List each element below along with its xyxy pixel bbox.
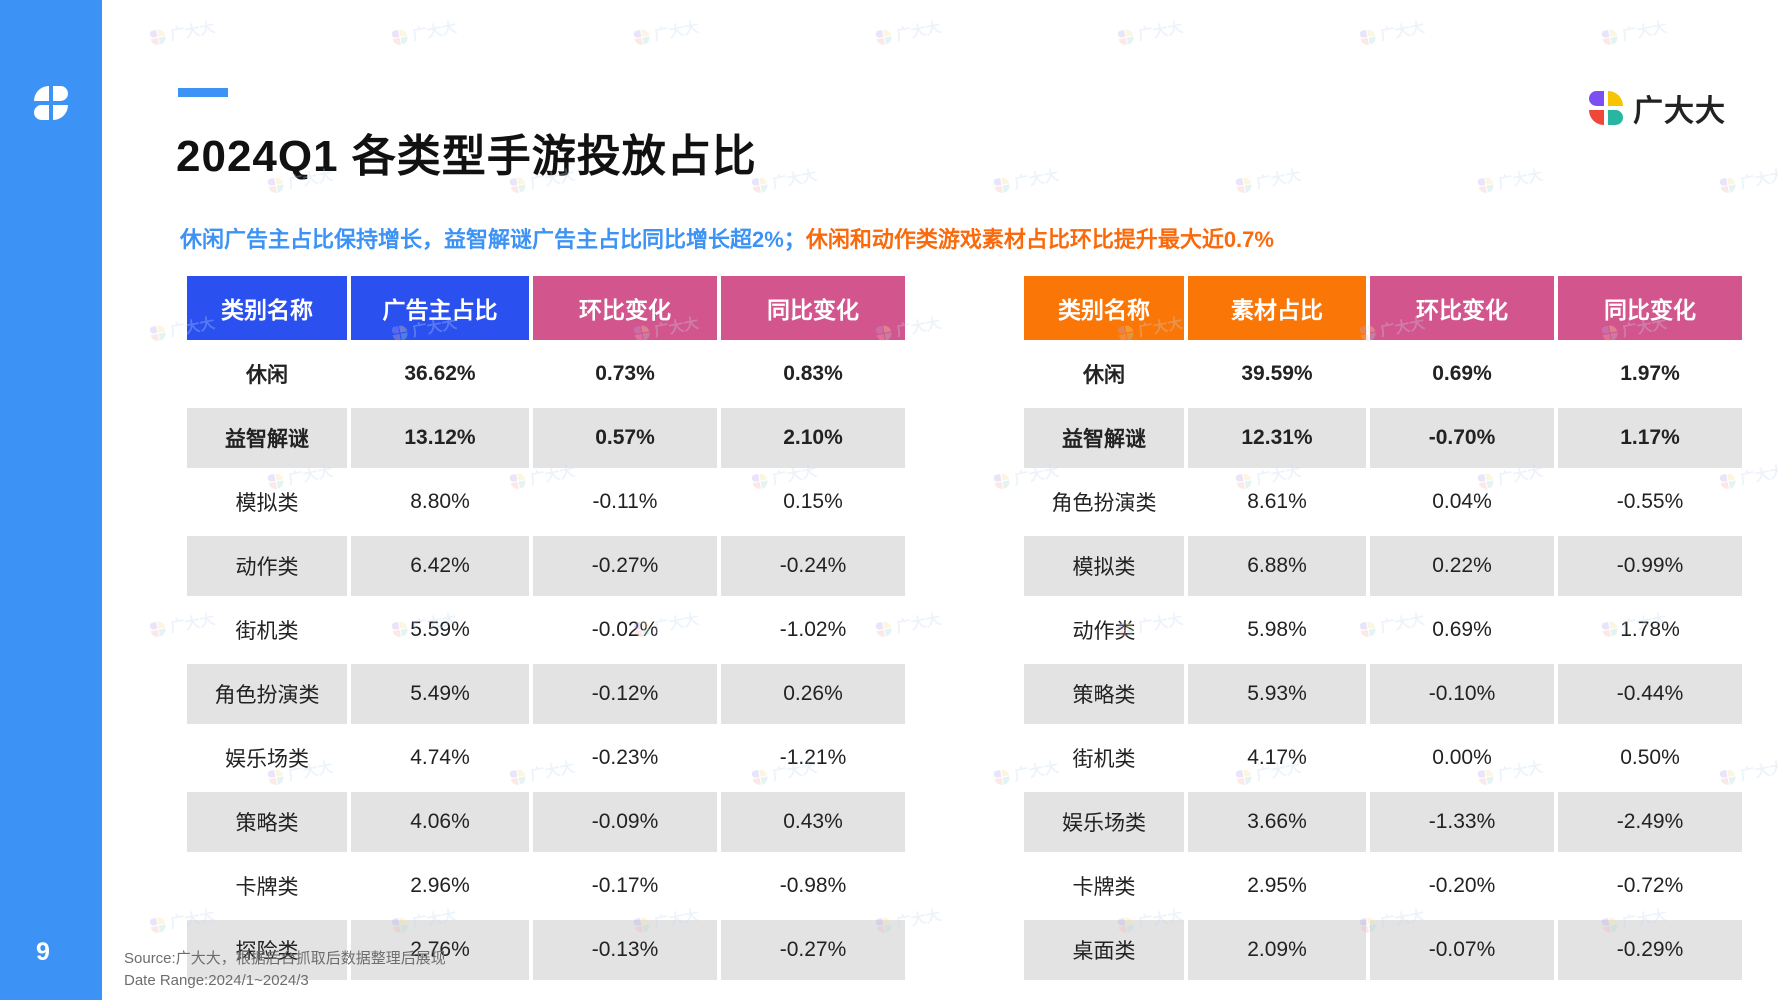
row-value-3: 0.26%	[721, 664, 905, 724]
row-value-2: 0.69%	[1370, 600, 1554, 660]
watermark-pinwheel-icon	[1601, 28, 1619, 46]
table-row: 策略类5.93%-0.10%-0.44%	[1024, 664, 1742, 724]
watermark-pinwheel-icon	[1359, 28, 1377, 46]
page-title: 2024Q1 各类型手游投放占比	[176, 120, 757, 184]
row-value-1: 13.12%	[351, 408, 529, 468]
page-subtitle: 休闲广告主占比保持增长，益智解谜广告主占比同比增长超2%；休闲和动作类游戏素材占…	[180, 222, 1274, 254]
table-row: 卡牌类2.96%-0.17%-0.98%	[187, 856, 905, 916]
brand-logo: 广大大	[1589, 86, 1726, 130]
subtitle-blue-text: 休闲广告主占比保持增长，益智解谜广告主占比同比增长超2%；	[180, 227, 806, 252]
watermark-pinwheel-icon	[149, 324, 167, 342]
row-value-2: 0.73%	[533, 344, 717, 404]
page-number: 9	[36, 938, 50, 967]
watermark-pinwheel-icon	[633, 28, 651, 46]
row-value-2: -0.02%	[533, 600, 717, 660]
watermark-pinwheel-icon	[1477, 176, 1495, 194]
row-value-1: 8.61%	[1188, 472, 1366, 532]
creative-share-table: 类别名称素材占比环比变化同比变化 休闲39.59%0.69%1.97%益智解谜1…	[1020, 272, 1746, 984]
row-value-3: -0.27%	[721, 920, 905, 980]
row-value-1: 4.74%	[351, 728, 529, 788]
watermark: 广大大	[149, 16, 217, 49]
watermark-text: 广大大	[1012, 164, 1060, 193]
table-row: 街机类4.17%0.00%0.50%	[1024, 728, 1742, 788]
row-category-label: 桌面类	[1024, 920, 1184, 980]
footer-source: Source:广大大，根据后台抓取后数据整理后展现 Date Range:202…	[124, 948, 446, 992]
watermark-text: 广大大	[410, 16, 458, 45]
row-value-3: -1.21%	[721, 728, 905, 788]
row-value-1: 8.80%	[351, 472, 529, 532]
row-value-1: 39.59%	[1188, 344, 1366, 404]
pinwheel-logo-icon	[34, 86, 68, 120]
row-category-label: 益智解谜	[187, 408, 347, 468]
row-value-1: 4.06%	[351, 792, 529, 852]
row-value-3: -0.55%	[1558, 472, 1742, 532]
watermark: 广大大	[1235, 164, 1303, 197]
watermark-pinwheel-icon	[149, 916, 167, 934]
row-value-1: 2.09%	[1188, 920, 1366, 980]
table-row: 娱乐场类3.66%-1.33%-2.49%	[1024, 792, 1742, 852]
watermark: 广大大	[1359, 16, 1427, 49]
footer-date-range-line: Date Range:2024/1~2024/3	[124, 970, 446, 992]
row-value-2: -0.27%	[533, 536, 717, 596]
watermark: 广大大	[993, 164, 1061, 197]
watermark-pinwheel-icon	[149, 28, 167, 46]
row-value-2: -0.23%	[533, 728, 717, 788]
table-header-row: 类别名称广告主占比环比变化同比变化	[187, 276, 905, 340]
watermark-text: 广大大	[1620, 16, 1668, 45]
table-row: 模拟类8.80%-0.11%0.15%	[187, 472, 905, 532]
watermark: 广大大	[633, 16, 701, 49]
row-value-2: 0.04%	[1370, 472, 1554, 532]
row-value-2: -0.11%	[533, 472, 717, 532]
watermark-pinwheel-icon	[1117, 28, 1135, 46]
row-value-3: -1.02%	[721, 600, 905, 660]
watermark: 广大大	[1117, 16, 1185, 49]
watermark-text: 广大大	[168, 16, 216, 45]
row-value-2: 0.57%	[533, 408, 717, 468]
row-value-3: -0.98%	[721, 856, 905, 916]
row-category-label: 娱乐场类	[1024, 792, 1184, 852]
watermark-pinwheel-icon	[993, 176, 1011, 194]
watermark-text: 广大大	[1378, 16, 1426, 45]
table-row: 模拟类6.88%0.22%-0.99%	[1024, 536, 1742, 596]
watermark-pinwheel-icon	[149, 620, 167, 638]
row-value-1: 5.93%	[1188, 664, 1366, 724]
row-value-2: -0.20%	[1370, 856, 1554, 916]
row-value-1: 2.96%	[351, 856, 529, 916]
table-row: 益智解谜13.12%0.57%2.10%	[187, 408, 905, 468]
row-category-label: 策略类	[1024, 664, 1184, 724]
table-row: 街机类5.59%-0.02%-1.02%	[187, 600, 905, 660]
row-category-label: 模拟类	[187, 472, 347, 532]
title-accent-bar	[178, 88, 228, 97]
row-category-label: 益智解谜	[1024, 408, 1184, 468]
table-row: 动作类6.42%-0.27%-0.24%	[187, 536, 905, 596]
row-value-3: -0.29%	[1558, 920, 1742, 980]
table-row: 娱乐场类4.74%-0.23%-1.21%	[187, 728, 905, 788]
table-row: 桌面类2.09%-0.07%-0.29%	[1024, 920, 1742, 980]
column-header-0: 类别名称	[187, 276, 347, 340]
watermark-text: 广大大	[652, 16, 700, 45]
row-value-1: 3.66%	[1188, 792, 1366, 852]
subtitle-orange-text: 休闲和动作类游戏素材占比环比提升最大近0.7%	[806, 227, 1274, 252]
watermark-text: 广大大	[770, 164, 818, 193]
column-header-2: 环比变化	[1370, 276, 1554, 340]
row-value-2: -0.13%	[533, 920, 717, 980]
advertiser-share-table-wrap: 类别名称广告主占比环比变化同比变化 休闲36.62%0.73%0.83%益智解谜…	[183, 272, 909, 984]
row-value-3: -0.99%	[1558, 536, 1742, 596]
row-category-label: 娱乐场类	[187, 728, 347, 788]
footer-source-line: Source:广大大，根据后台抓取后数据整理后展现	[124, 948, 446, 970]
row-category-label: 角色扮演类	[1024, 472, 1184, 532]
table-row: 卡牌类2.95%-0.20%-0.72%	[1024, 856, 1742, 916]
row-value-2: -0.70%	[1370, 408, 1554, 468]
row-value-3: -0.72%	[1558, 856, 1742, 916]
watermark-pinwheel-icon	[1235, 176, 1253, 194]
row-category-label: 动作类	[187, 536, 347, 596]
row-category-label: 模拟类	[1024, 536, 1184, 596]
row-value-3: -0.24%	[721, 536, 905, 596]
row-value-3: -2.49%	[1558, 792, 1742, 852]
row-category-label: 策略类	[187, 792, 347, 852]
table-row: 休闲39.59%0.69%1.97%	[1024, 344, 1742, 404]
table-body: 休闲39.59%0.69%1.97%益智解谜12.31%-0.70%1.17%角…	[1024, 344, 1742, 980]
row-value-3: 1.17%	[1558, 408, 1742, 468]
row-value-3: 1.78%	[1558, 600, 1742, 660]
row-value-1: 5.59%	[351, 600, 529, 660]
row-value-2: -0.09%	[533, 792, 717, 852]
table-row: 休闲36.62%0.73%0.83%	[187, 344, 905, 404]
row-value-2: -0.12%	[533, 664, 717, 724]
row-category-label: 休闲	[187, 344, 347, 404]
table-body: 休闲36.62%0.73%0.83%益智解谜13.12%0.57%2.10%模拟…	[187, 344, 905, 980]
row-value-3: 2.10%	[721, 408, 905, 468]
row-value-1: 5.98%	[1188, 600, 1366, 660]
row-value-1: 12.31%	[1188, 408, 1366, 468]
row-value-2: 0.22%	[1370, 536, 1554, 596]
row-category-label: 卡牌类	[1024, 856, 1184, 916]
watermark-pinwheel-icon	[875, 28, 893, 46]
left-rail: 9	[0, 0, 102, 1000]
row-value-3: -0.44%	[1558, 664, 1742, 724]
row-value-3: 0.83%	[721, 344, 905, 404]
row-category-label: 休闲	[1024, 344, 1184, 404]
row-value-1: 6.42%	[351, 536, 529, 596]
table-head: 类别名称素材占比环比变化同比变化	[1024, 276, 1742, 340]
row-value-2: -0.10%	[1370, 664, 1554, 724]
row-category-label: 街机类	[187, 600, 347, 660]
table-row: 益智解谜12.31%-0.70%1.17%	[1024, 408, 1742, 468]
column-header-1: 素材占比	[1188, 276, 1366, 340]
table-head: 类别名称广告主占比环比变化同比变化	[187, 276, 905, 340]
advertiser-share-table: 类别名称广告主占比环比变化同比变化 休闲36.62%0.73%0.83%益智解谜…	[183, 272, 909, 984]
watermark-text: 广大大	[1496, 164, 1544, 193]
table-row: 角色扮演类5.49%-0.12%0.26%	[187, 664, 905, 724]
table-header-row: 类别名称素材占比环比变化同比变化	[1024, 276, 1742, 340]
row-value-1: 2.95%	[1188, 856, 1366, 916]
watermark: 广大大	[875, 16, 943, 49]
creative-share-table-wrap: 类别名称素材占比环比变化同比变化 休闲39.59%0.69%1.97%益智解谜1…	[1020, 272, 1746, 984]
table-row: 角色扮演类8.61%0.04%-0.55%	[1024, 472, 1742, 532]
row-value-2: -1.33%	[1370, 792, 1554, 852]
row-category-label: 卡牌类	[187, 856, 347, 916]
row-value-3: 0.15%	[721, 472, 905, 532]
watermark: 广大大	[1719, 164, 1778, 197]
watermark: 广大大	[751, 164, 819, 197]
row-value-3: 1.97%	[1558, 344, 1742, 404]
brand-name: 广大大	[1633, 86, 1726, 130]
row-value-2: 0.69%	[1370, 344, 1554, 404]
watermark-pinwheel-icon	[1719, 176, 1737, 194]
row-category-label: 动作类	[1024, 600, 1184, 660]
column-header-3: 同比变化	[1558, 276, 1742, 340]
row-value-3: 0.43%	[721, 792, 905, 852]
watermark-pinwheel-icon	[993, 768, 1011, 786]
row-value-1: 4.17%	[1188, 728, 1366, 788]
watermark: 广大大	[391, 16, 459, 49]
row-value-1: 5.49%	[351, 664, 529, 724]
column-header-3: 同比变化	[721, 276, 905, 340]
table-row: 策略类4.06%-0.09%0.43%	[187, 792, 905, 852]
watermark: 广大大	[1477, 164, 1545, 197]
row-value-3: 0.50%	[1558, 728, 1742, 788]
row-value-2: 0.00%	[1370, 728, 1554, 788]
watermark-text: 广大大	[1136, 16, 1184, 45]
watermark-text: 广大大	[1738, 164, 1778, 193]
slide-canvas: 9 2024Q1 各类型手游投放占比 休闲广告主占比保持增长，益智解谜广告主占比…	[0, 0, 1778, 1000]
row-value-1: 6.88%	[1188, 536, 1366, 596]
column-header-1: 广告主占比	[351, 276, 529, 340]
watermark-pinwheel-icon	[993, 472, 1011, 490]
brand-pinwheel-icon	[1589, 91, 1623, 125]
watermark: 广大大	[1601, 16, 1669, 49]
row-value-2: -0.17%	[533, 856, 717, 916]
table-row: 动作类5.98%0.69%1.78%	[1024, 600, 1742, 660]
row-category-label: 街机类	[1024, 728, 1184, 788]
row-value-2: -0.07%	[1370, 920, 1554, 980]
column-header-2: 环比变化	[533, 276, 717, 340]
watermark-pinwheel-icon	[391, 28, 409, 46]
row-category-label: 角色扮演类	[187, 664, 347, 724]
watermark-text: 广大大	[1254, 164, 1302, 193]
watermark-text: 广大大	[894, 16, 942, 45]
column-header-0: 类别名称	[1024, 276, 1184, 340]
row-value-1: 36.62%	[351, 344, 529, 404]
